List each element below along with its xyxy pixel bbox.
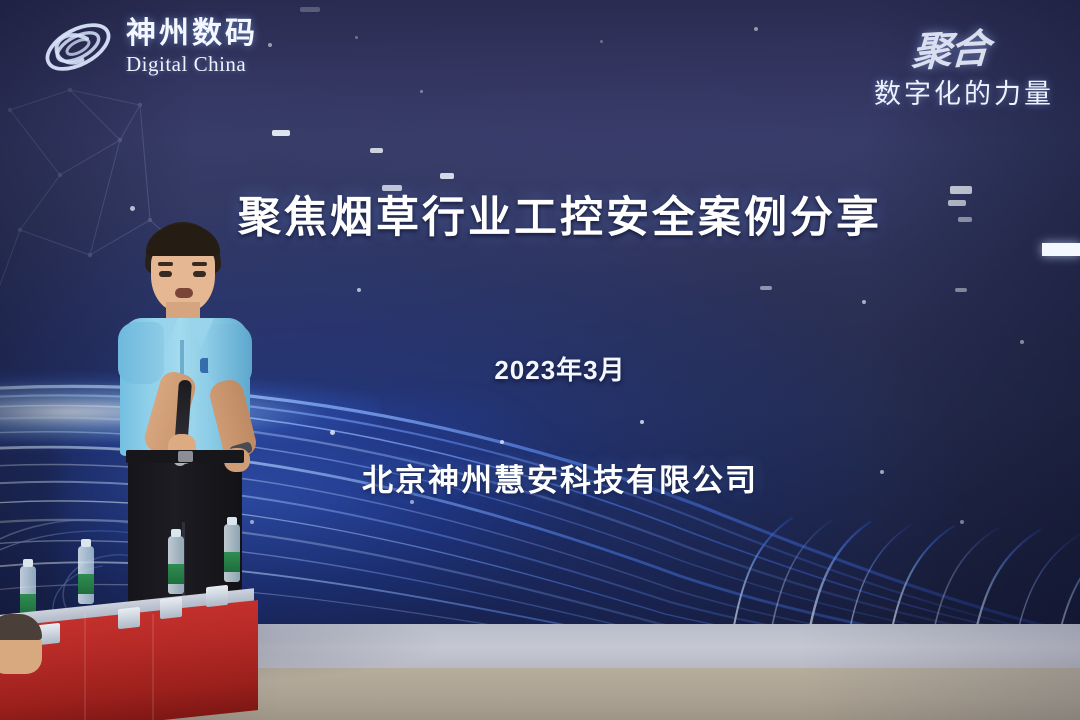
slogan-calligraphy: 聚合 [910, 16, 989, 78]
bottle-cap [227, 517, 237, 525]
name-card-holder [118, 607, 140, 629]
speaker-eye-right [193, 271, 206, 277]
brand-name-en: Digital China [126, 54, 258, 75]
speaker-belt-buckle [178, 451, 193, 462]
light-streak-decoration [300, 7, 320, 12]
digital-china-swirl-icon [40, 16, 116, 78]
particle-dot-decoration [600, 40, 603, 43]
water-bottle [168, 536, 184, 594]
screenshot-root: 神州数码 Digital China 聚合 数字化的力量 聚焦烟草行业工控安全案… [0, 0, 1080, 720]
bottle-cap [23, 559, 33, 567]
speaker-shirt-placket [180, 340, 184, 374]
light-streak-decoration [440, 173, 454, 179]
water-bottle [224, 524, 240, 582]
light-streak-decoration [760, 286, 772, 290]
particle-dot-decoration [862, 300, 866, 304]
speaker-sleeve-left [118, 322, 164, 384]
slogan-subtitle: 数字化的力量 [874, 72, 1054, 111]
brand-logo: 神州数码 Digital China [40, 16, 258, 78]
particle-dot-decoration [357, 288, 361, 292]
event-slogan: 聚合 数字化的力量 [874, 18, 1054, 111]
speaker-eye-left [159, 271, 172, 277]
speaker-eyebrow-left [158, 262, 173, 266]
bottle-cap [81, 539, 91, 547]
particle-dot-decoration [754, 27, 758, 31]
particle-dot-decoration [420, 90, 423, 93]
table-skirt-fold [84, 614, 86, 720]
speaker-eyebrow-right [192, 262, 207, 266]
speaker-mouth [175, 288, 193, 298]
name-card-holder [206, 585, 228, 607]
light-streak-decoration [272, 130, 290, 136]
bottle-label [224, 552, 240, 572]
water-bottle [78, 546, 94, 604]
screen-edge-light-bar [1042, 243, 1080, 256]
table-skirt-fold [152, 614, 154, 720]
particle-dot-decoration [268, 43, 272, 47]
light-streak-decoration [955, 288, 967, 292]
light-streak-decoration [370, 148, 383, 153]
bottle-cap [171, 529, 181, 537]
bottle-label [78, 574, 94, 594]
speaker-sleeve-right [208, 324, 252, 386]
particle-dot-decoration [355, 36, 358, 39]
bottle-label [168, 564, 184, 584]
name-card-holder [160, 597, 182, 619]
brand-name-cn: 神州数码 [126, 19, 258, 49]
speaker-hair-top [146, 224, 220, 256]
